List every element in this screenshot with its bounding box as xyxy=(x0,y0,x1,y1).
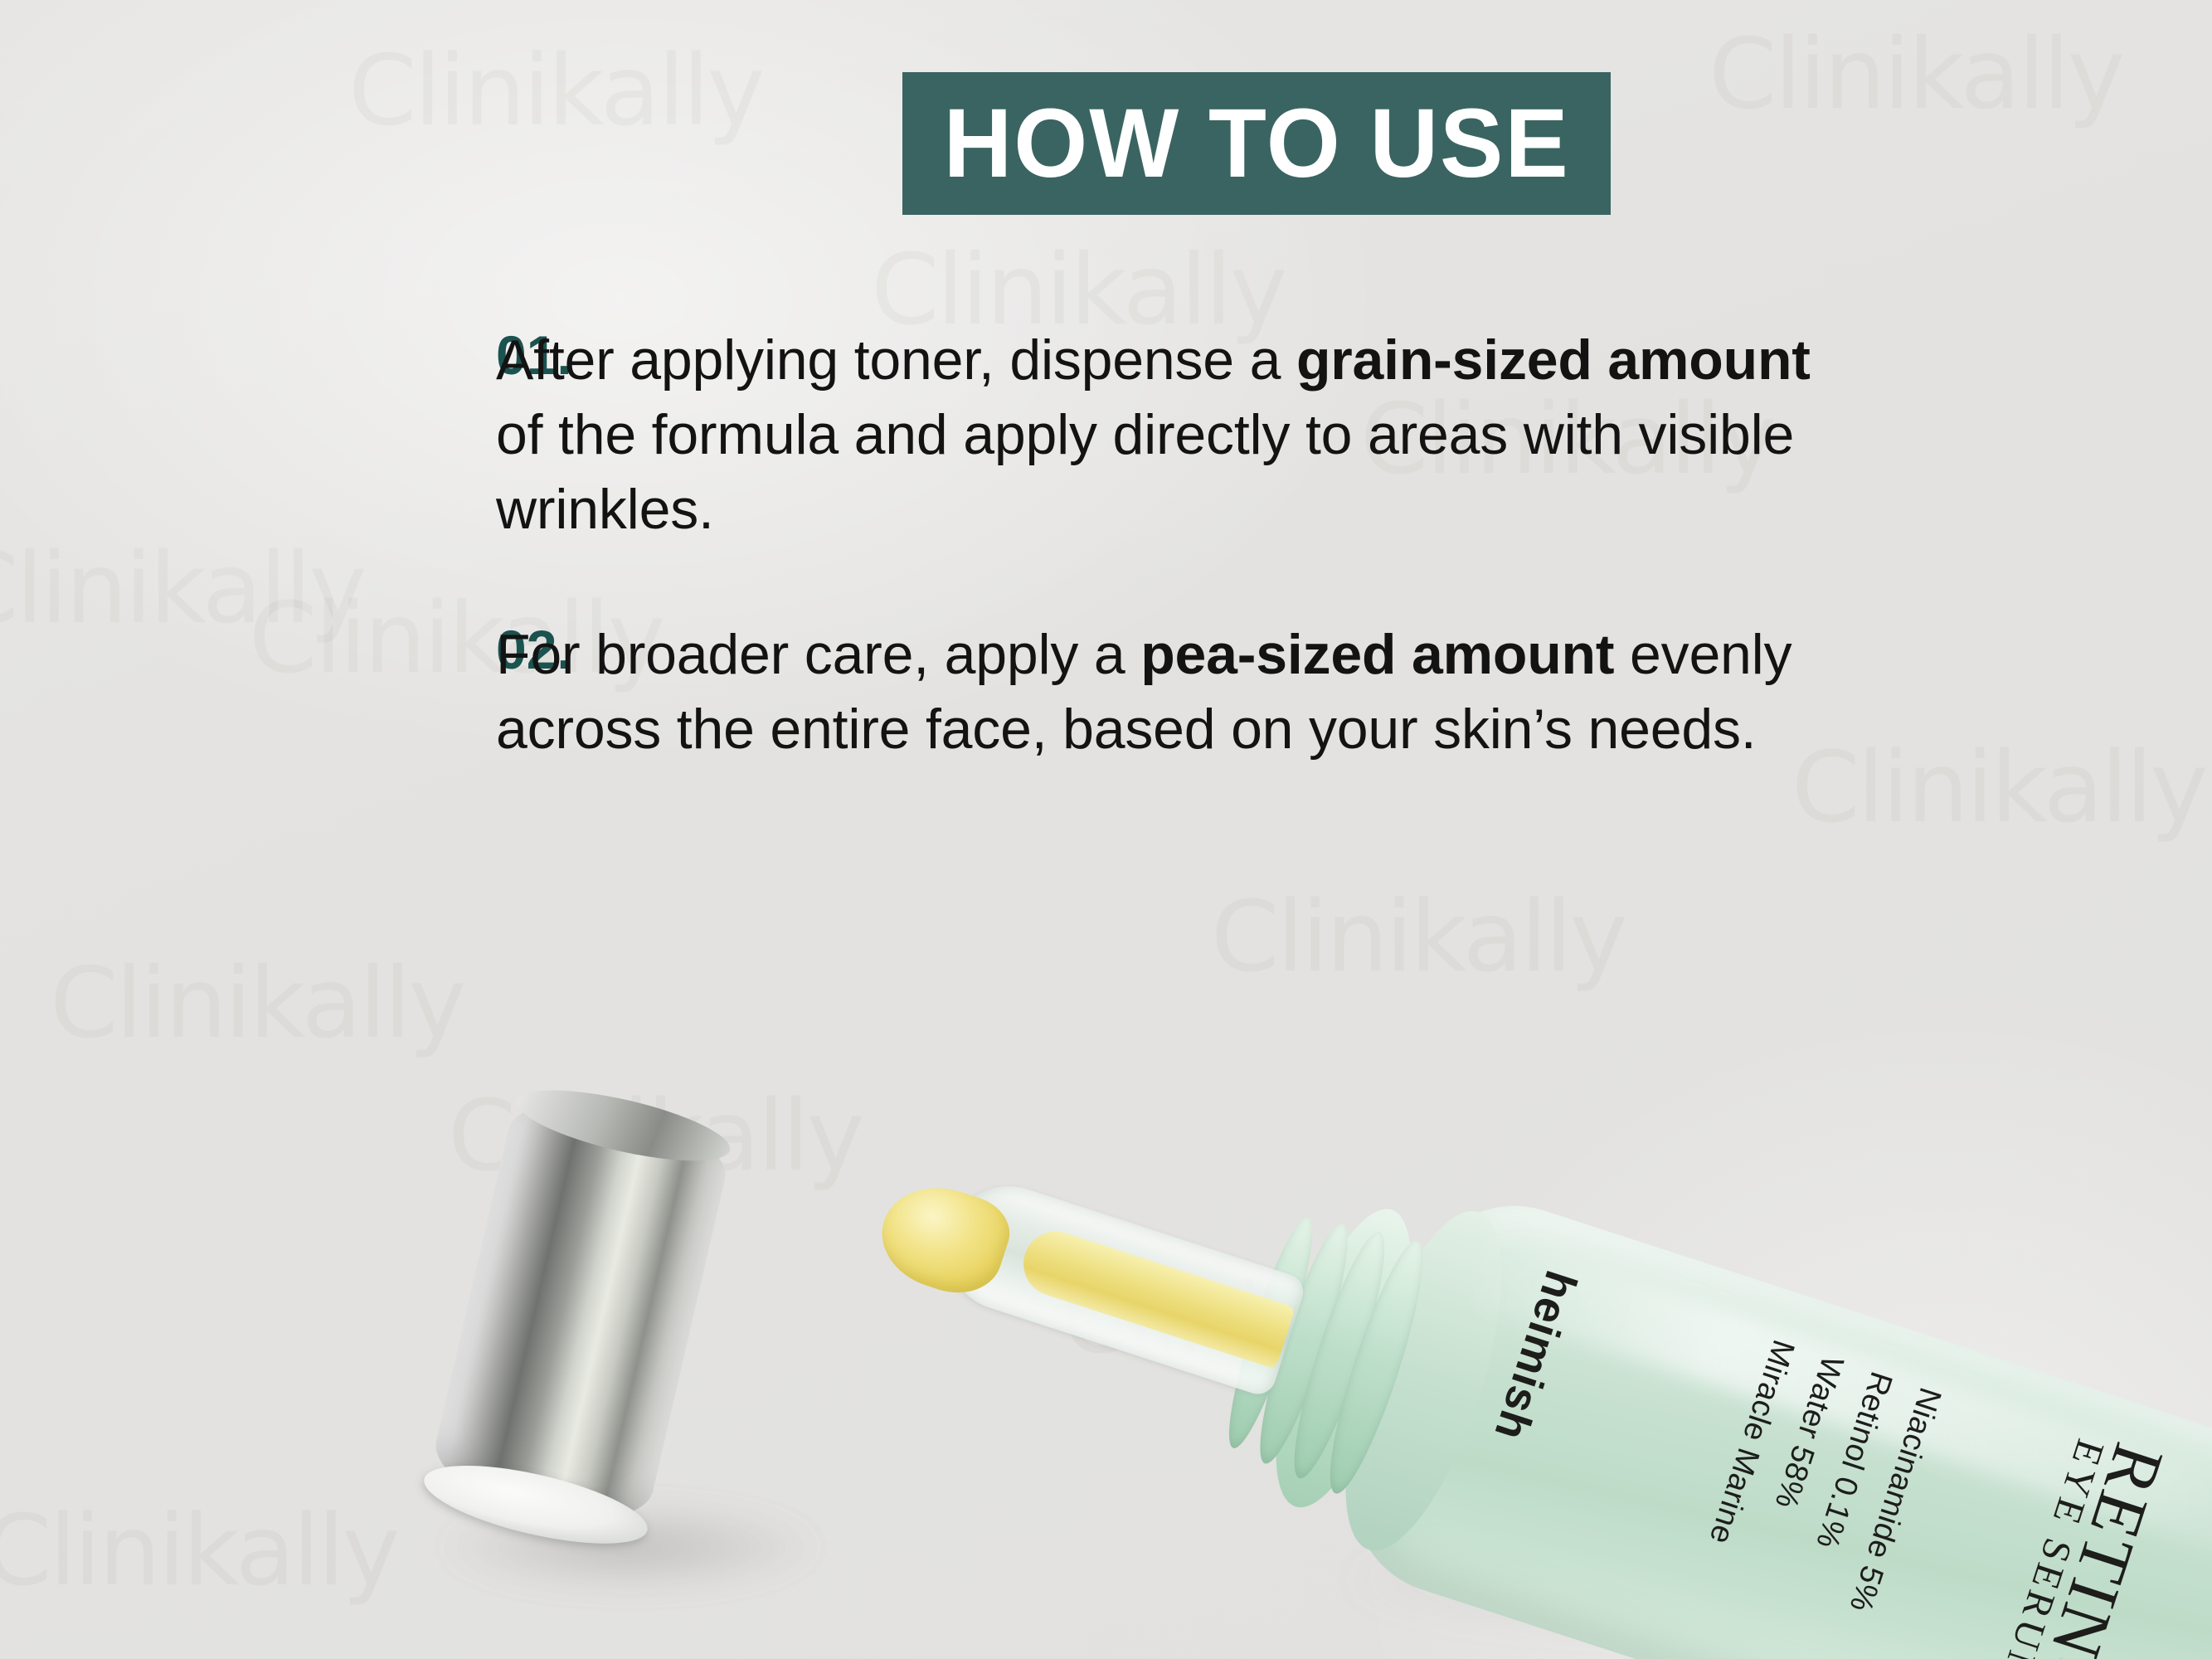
step-number: 01. xyxy=(0,324,496,388)
instruction-steps: 01. After applying toner, dispense a gra… xyxy=(0,324,2212,767)
step-text-part: After applying toner, dispense a xyxy=(496,328,1296,392)
step-text-emphasis: pea-sized amount xyxy=(1140,623,1614,686)
step-text-emphasis: grain-sized amount xyxy=(1296,328,1811,392)
step-text-part: of the formula and apply directly to are… xyxy=(496,403,1794,541)
page-title: HOW TO USE xyxy=(944,95,1570,192)
instruction-step: 02. For broader care, apply a pea-sized … xyxy=(0,618,2212,767)
how-to-use-infographic: Clinikally Clinikally Clinikally Clinika… xyxy=(0,0,2212,1659)
instruction-step: 01. After applying toner, dispense a gra… xyxy=(0,324,2212,547)
step-number: 02. xyxy=(0,618,496,683)
step-text-part: For broader care, apply a xyxy=(496,623,1140,686)
step-text: After applying toner, dispense a grain-s… xyxy=(496,324,1823,547)
header-banner: HOW TO USE xyxy=(902,72,1611,215)
step-text: For broader care, apply a pea-sized amou… xyxy=(496,618,1823,767)
